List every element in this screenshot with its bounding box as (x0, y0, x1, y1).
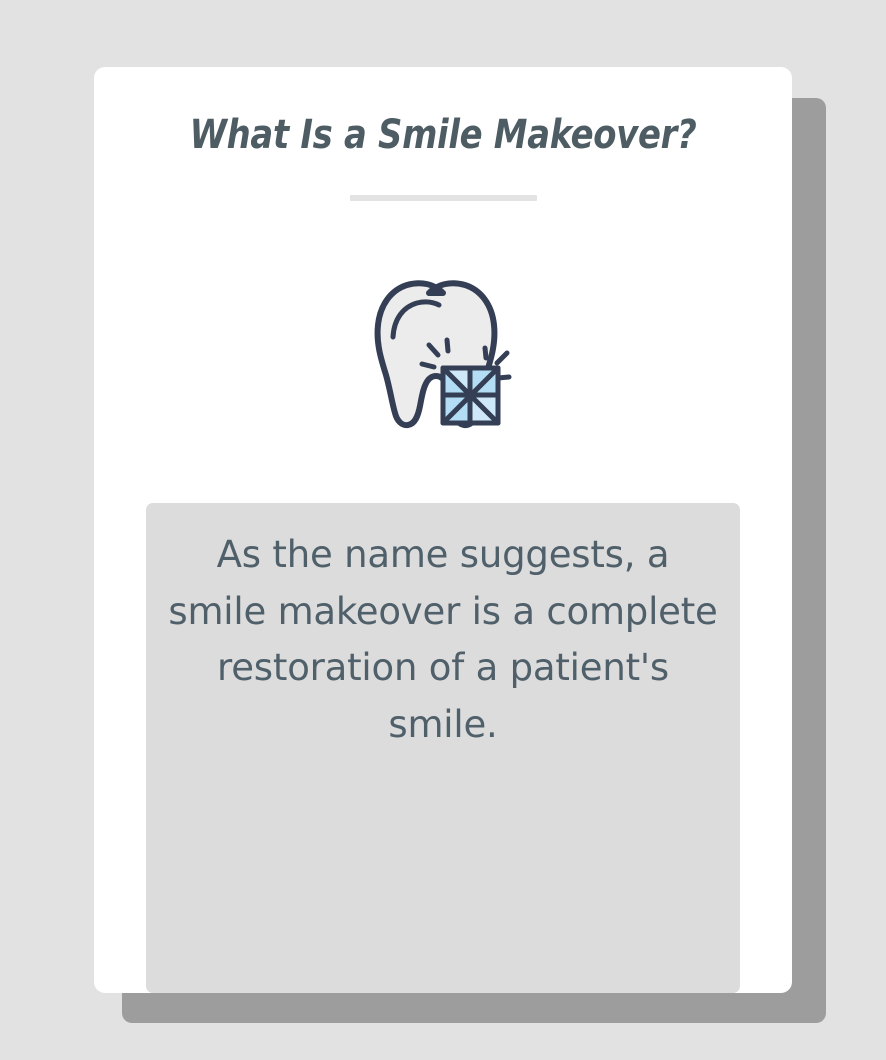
description-text: As the name suggests, a smile makeover i… (164, 527, 722, 753)
title-divider (350, 195, 537, 201)
slide-canvas: What Is a Smile Makeover? (0, 0, 886, 1060)
page-title: What Is a Smile Makeover? (115, 113, 771, 157)
gem-shape (443, 368, 498, 423)
description-panel: As the name suggests, a smile makeover i… (146, 503, 740, 993)
content-card: What Is a Smile Makeover? (94, 67, 792, 993)
tooth-with-diamond-icon (369, 279, 517, 431)
